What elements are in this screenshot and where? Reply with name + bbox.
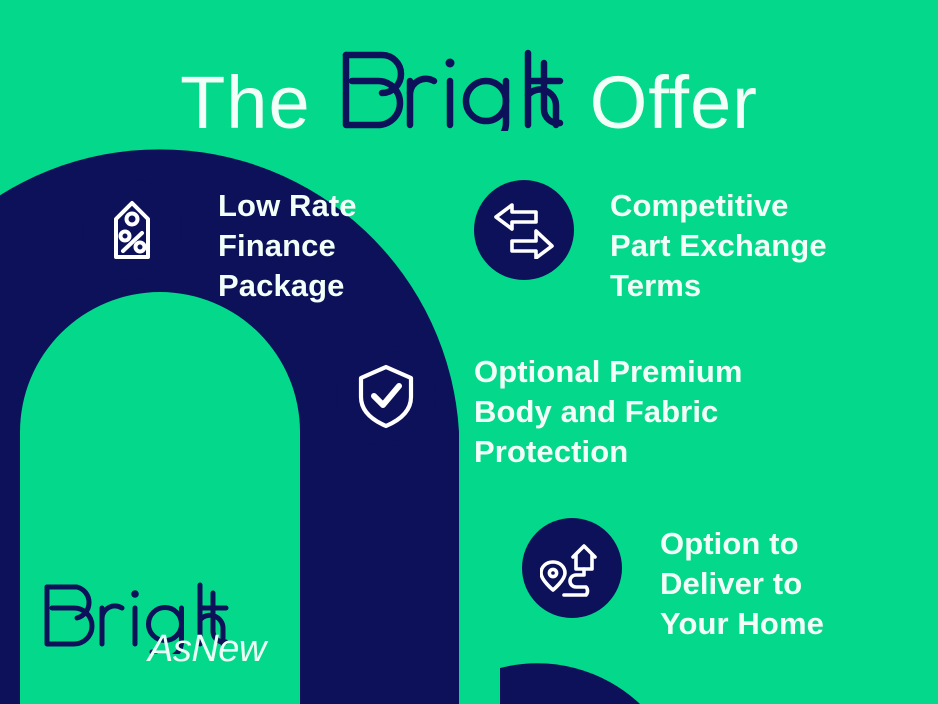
bright-logo-mark	[338, 49, 566, 149]
price-tag-percent-icon	[82, 180, 182, 280]
headline-suffix: Offer	[590, 61, 758, 144]
brightasnew-subtitle: AsNew	[148, 630, 266, 668]
delivery-route-home-icon	[522, 518, 622, 618]
exchange-arrows-icon	[474, 180, 574, 280]
feature-item-body-fabric-protection: Optional Premium Body and Fabric Protect…	[336, 346, 743, 472]
brightasnew-logo[interactable]: AsNew	[40, 578, 300, 684]
feature-label: Option to Deliver to Your Home	[660, 518, 824, 644]
feature-label: Optional Premium Body and Fabric Protect…	[474, 346, 743, 472]
feature-label: Low Rate Finance Package	[218, 180, 357, 306]
page-title: The	[0, 46, 938, 146]
feature-item-low-rate-finance: Low Rate Finance Package	[82, 180, 357, 306]
feature-item-home-delivery: Option to Deliver to Your Home	[522, 518, 824, 644]
navy-wedge	[500, 663, 640, 704]
promotional-banner: The	[0, 0, 938, 704]
headline-prefix: The	[180, 61, 311, 144]
feature-label: Competitive Part Exchange Terms	[610, 180, 827, 306]
shield-check-icon	[336, 346, 436, 446]
feature-item-part-exchange: Competitive Part Exchange Terms	[474, 180, 827, 306]
